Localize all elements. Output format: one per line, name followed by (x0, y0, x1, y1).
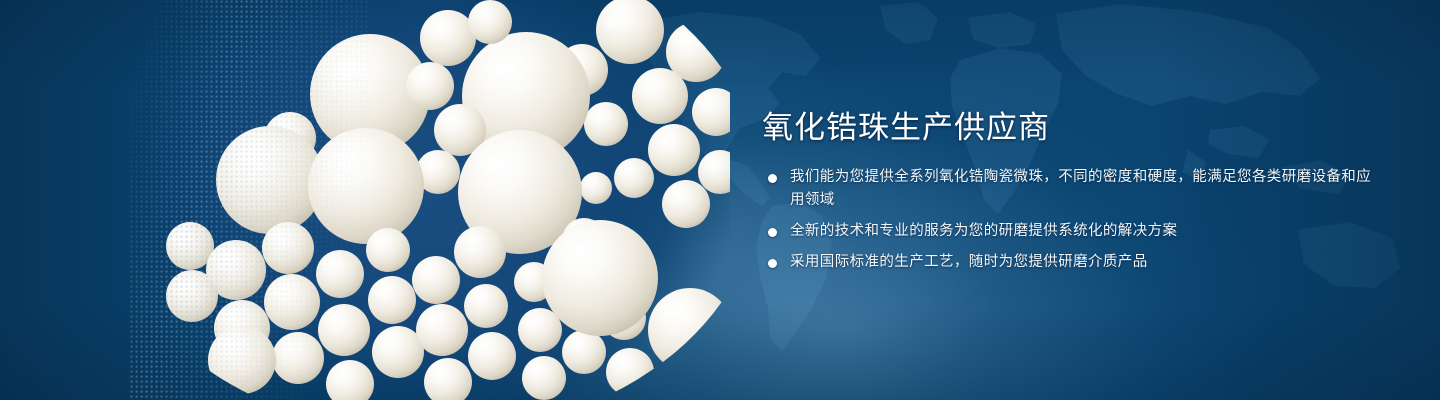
bullet-dot-icon (768, 228, 777, 237)
hero-banner: 氧化锆珠生产供应商 我们能为您提供全系列氧化锆陶瓷微珠，不同的密度和硬度，能满足… (0, 0, 1440, 400)
halftone-edge-pattern (130, 0, 370, 400)
list-item: 全新的技术和专业的服务为您的研磨提供系统化的解决方案 (762, 220, 1382, 243)
page-title: 氧化锆珠生产供应商 (762, 108, 1382, 148)
bullet-dot-icon (768, 174, 777, 183)
list-item-text: 采用国际标准的生产工艺，随时为您提供研磨介质产品 (790, 254, 1148, 270)
zirconia-beads-photo (130, 0, 730, 400)
list-item-text: 全新的技术和专业的服务为您的研磨提供系统化的解决方案 (790, 223, 1177, 239)
banner-copy: 氧化锆珠生产供应商 我们能为您提供全系列氧化锆陶瓷微珠，不同的密度和硬度，能满足… (762, 108, 1382, 274)
feature-list: 我们能为您提供全系列氧化锆陶瓷微珠，不同的密度和硬度，能满足您各类研磨设备和应用… (762, 166, 1382, 274)
bullet-dot-icon (768, 259, 777, 268)
list-item: 采用国际标准的生产工艺，随时为您提供研磨介质产品 (762, 251, 1382, 274)
list-item-text: 我们能为您提供全系列氧化锆陶瓷微珠，不同的密度和硬度，能满足您各类研磨设备和应用… (790, 169, 1371, 208)
list-item: 我们能为您提供全系列氧化锆陶瓷微珠，不同的密度和硬度，能满足您各类研磨设备和应用… (762, 166, 1382, 212)
